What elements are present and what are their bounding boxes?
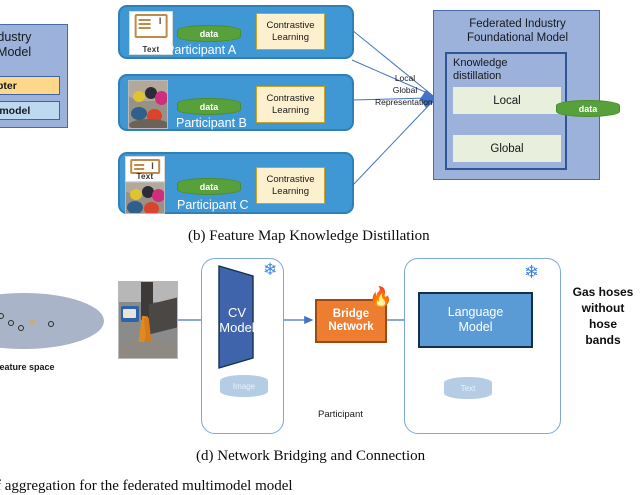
federated-model-title-line2: Foundational Model bbox=[467, 32, 568, 44]
feature-dot bbox=[8, 320, 14, 326]
text-icon-glyph bbox=[135, 14, 168, 38]
bridge-network-line2: Network bbox=[328, 321, 373, 334]
image-store-cylinder: Image bbox=[220, 375, 268, 397]
output-line4: bands bbox=[566, 332, 640, 348]
data-cylinder-label: data bbox=[200, 29, 219, 39]
contrastive-learning-box: Contrastive Learning bbox=[256, 167, 325, 204]
participant-card-b: data Contrastive Learning Participant B bbox=[118, 74, 354, 131]
output-line2: without bbox=[566, 300, 640, 316]
participant-card-c: Text data Contrastive Learning Participa… bbox=[118, 152, 354, 214]
kd-local-row: Local bbox=[453, 87, 561, 114]
cv-model-panel bbox=[201, 258, 284, 434]
output-line1: Gas hoses bbox=[566, 284, 640, 300]
left-partial-foundational-model-panel: d Industry nal Model apter ned model bbox=[0, 24, 68, 128]
language-model-line2: Model bbox=[458, 320, 492, 335]
data-cylinder: data bbox=[177, 98, 241, 115]
contrastive-learning-box: Contrastive Learning bbox=[256, 13, 325, 50]
kd-title-line2: distillation bbox=[453, 70, 501, 82]
federated-model-title: Federated Industry Foundational Model bbox=[434, 17, 601, 45]
cv-model-line1: CV bbox=[219, 305, 255, 320]
contrastive-learning-line2: Learning bbox=[272, 186, 309, 198]
contrastive-learning-line2: Learning bbox=[272, 105, 309, 117]
participant-label-d: Participant bbox=[318, 409, 363, 420]
server-data-cylinder: data bbox=[556, 100, 620, 117]
source-image-thumbnail bbox=[118, 281, 178, 359]
knowledge-distillation-title: Knowledge distillation bbox=[453, 57, 563, 83]
cv-model-label: CV Model bbox=[219, 305, 255, 335]
left-partial-pretrained-row: ned model bbox=[0, 101, 60, 120]
contrastive-learning-line1: Contrastive bbox=[266, 93, 314, 105]
local-global-representations-label: Local Global Representations bbox=[375, 72, 435, 108]
left-partial-title: d Industry nal Model bbox=[0, 30, 69, 60]
contrastive-learning-line1: Contrastive bbox=[266, 174, 314, 186]
participant-card-a: Text data Contrastive Learning Participa… bbox=[118, 5, 354, 59]
feature-dot bbox=[48, 321, 54, 327]
knowledge-distillation-box: Knowledge distillation Local Global bbox=[445, 52, 567, 170]
bottom-caption-clipped: f aggregation for the federated multimod… bbox=[0, 478, 293, 495]
photo-icon bbox=[128, 80, 168, 129]
contrastive-learning-line1: Contrastive bbox=[266, 20, 314, 32]
output-text: Gas hoses without hose bands bbox=[566, 284, 640, 348]
data-cylinder-label: data bbox=[200, 182, 219, 192]
data-cylinder: data bbox=[177, 25, 241, 42]
data-cylinder-label: data bbox=[200, 102, 219, 112]
data-cylinder: data bbox=[177, 178, 241, 195]
lgr-line3: Representations bbox=[375, 96, 435, 108]
sub-caption-b: (b) Feature Map Knowledge Distillation bbox=[188, 228, 430, 245]
image-store-label: Image bbox=[233, 382, 255, 391]
feature-dot bbox=[18, 325, 24, 331]
snowflake-icon: ❄ bbox=[263, 261, 277, 278]
text-icon-word: Text bbox=[126, 172, 164, 181]
feature-dot-highlight bbox=[29, 320, 35, 326]
snowflake-icon: ❄ bbox=[524, 263, 539, 281]
left-partial-adapter-row: apter bbox=[0, 76, 60, 95]
cv-model-line2: Model bbox=[219, 320, 255, 335]
federated-model-title-line1: Federated Industry bbox=[469, 18, 566, 30]
contrastive-learning-line2: Learning bbox=[272, 32, 309, 44]
contrastive-learning-box: Contrastive Learning bbox=[256, 86, 325, 123]
text-store-label: Text bbox=[461, 384, 476, 393]
output-line3: hose bbox=[566, 316, 640, 332]
left-partial-title-line2: nal Model bbox=[0, 45, 31, 59]
sub-caption-d: (d) Network Bridging and Connection bbox=[196, 448, 425, 465]
kd-global-row: Global bbox=[453, 135, 561, 162]
language-model-line1: Language bbox=[448, 305, 504, 320]
flame-icon: 🔥 bbox=[369, 288, 393, 307]
participant-name-a: Participant A bbox=[166, 43, 236, 57]
text-store-cylinder: Text bbox=[444, 377, 492, 399]
lgr-line1: Local bbox=[375, 72, 435, 84]
language-model-box: Language Model bbox=[418, 292, 533, 348]
unified-feature-space-label: nified feature space bbox=[0, 362, 55, 372]
left-partial-title-line1: d Industry bbox=[0, 30, 31, 44]
text-icon: Text bbox=[125, 156, 165, 182]
bridge-network-line1: Bridge bbox=[333, 308, 369, 321]
kd-title-line1: Knowledge bbox=[453, 57, 507, 69]
server-data-cylinder-label: data bbox=[579, 104, 598, 114]
federated-foundational-model-panel: Federated Industry Foundational Model Kn… bbox=[433, 10, 600, 180]
participant-name-c: Participant C bbox=[177, 198, 249, 212]
participant-name-b: Participant B bbox=[176, 116, 247, 130]
photo-icon bbox=[125, 182, 165, 214]
lgr-line2: Global bbox=[375, 84, 435, 96]
